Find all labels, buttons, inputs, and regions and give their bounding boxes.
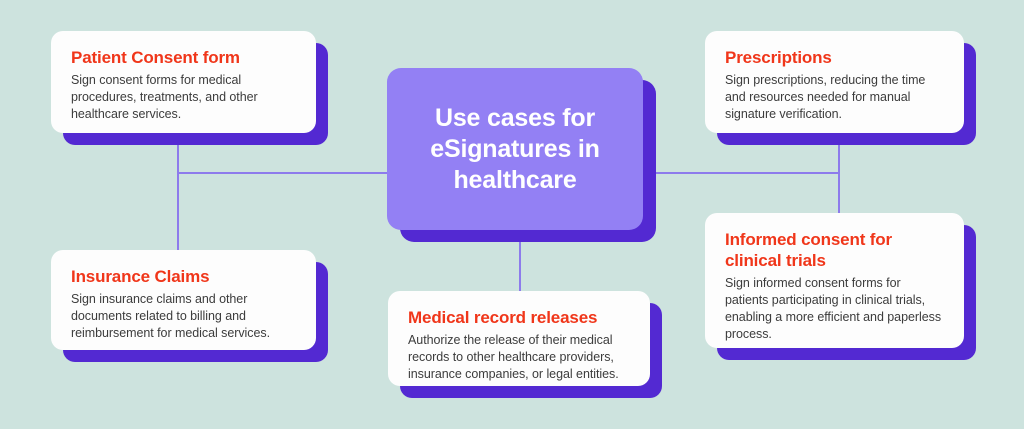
card-surface: Patient Consent form Sign consent forms … xyxy=(51,31,316,133)
card-surface: Informed consent for clinical trials Sig… xyxy=(705,213,964,348)
card-surface: Insurance Claims Sign insurance claims a… xyxy=(51,250,316,350)
card-title: Medical record releases xyxy=(408,307,630,328)
card-medical-records[interactable]: Medical record releases Authorize the re… xyxy=(388,291,650,386)
card-surface: Prescriptions Sign prescriptions, reduci… xyxy=(705,31,964,133)
card-title: Patient Consent form xyxy=(71,47,296,68)
card-patient-consent[interactable]: Patient Consent form Sign consent forms … xyxy=(51,31,316,133)
connector-left-vertical xyxy=(177,133,179,251)
connector-left-horizontal xyxy=(177,172,388,174)
diagram-canvas: Use cases for eSignatures in healthcare … xyxy=(0,0,1024,429)
card-surface: Medical record releases Authorize the re… xyxy=(388,291,650,386)
card-informed-consent[interactable]: Informed consent for clinical trials Sig… xyxy=(705,213,964,348)
card-insurance-claims[interactable]: Insurance Claims Sign insurance claims a… xyxy=(51,250,316,350)
card-body: Authorize the release of their medical r… xyxy=(408,332,630,383)
connector-bottom-vertical xyxy=(519,242,521,292)
card-prescriptions[interactable]: Prescriptions Sign prescriptions, reduci… xyxy=(705,31,964,133)
connector-right-horizontal xyxy=(643,172,840,174)
card-body: Sign prescriptions, reducing the time an… xyxy=(725,72,944,123)
center-node-title: Use cases for eSignatures in healthcare xyxy=(405,103,625,196)
card-title: Insurance Claims xyxy=(71,266,296,287)
card-body: Sign insurance claims and other document… xyxy=(71,291,296,342)
card-title: Informed consent for clinical trials xyxy=(725,229,944,271)
card-body: Sign consent forms for medical procedure… xyxy=(71,72,296,123)
card-title: Prescriptions xyxy=(725,47,944,68)
card-body: Sign informed consent forms for patients… xyxy=(725,275,944,343)
center-node[interactable]: Use cases for eSignatures in healthcare xyxy=(387,68,643,230)
